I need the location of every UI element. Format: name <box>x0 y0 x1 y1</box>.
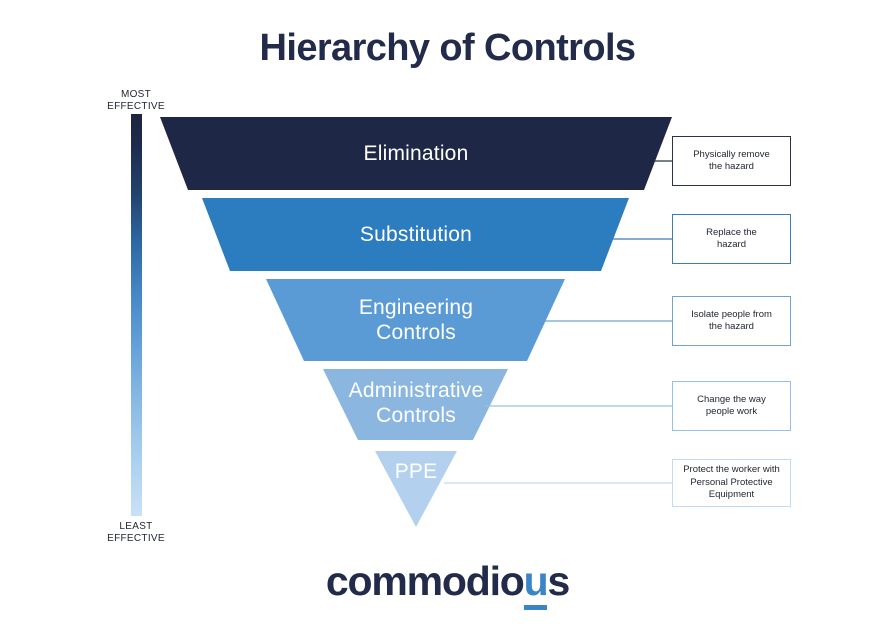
infographic-canvas: Hierarchy of Controls MOST EFFECTIVE LEA… <box>0 0 895 633</box>
brand-name-part-2: s <box>547 558 569 604</box>
callout-box-administrative-controls[interactable]: Change the way people work <box>672 381 791 431</box>
funnel-label-engineering-controls: Engineering Controls <box>266 295 566 345</box>
callout-box-engineering-controls[interactable]: Isolate people from the hazard <box>672 296 791 346</box>
brand-logo: commodious <box>0 558 895 605</box>
brand-accent-letter: u <box>524 558 548 610</box>
callout-box-ppe[interactable]: Protect the worker with Personal Protect… <box>672 459 791 507</box>
callout-box-substitution[interactable]: Replace the hazard <box>672 214 791 264</box>
callout-box-elimination[interactable]: Physically remove the hazard <box>672 136 791 186</box>
effectiveness-gradient-bar <box>131 114 142 516</box>
page-title: Hierarchy of Controls <box>0 27 895 70</box>
brand-name-part-1: commodio <box>326 558 524 604</box>
funnel-label-administrative-controls: Administrative Controls <box>296 378 536 428</box>
scale-most-effective-label: MOST EFFECTIVE <box>92 89 180 112</box>
funnel-label-ppe: PPE <box>356 459 476 484</box>
funnel-label-substitution: Substitution <box>216 222 616 247</box>
funnel-label-elimination: Elimination <box>216 141 616 166</box>
scale-least-effective-label: LEAST EFFECTIVE <box>92 521 180 544</box>
